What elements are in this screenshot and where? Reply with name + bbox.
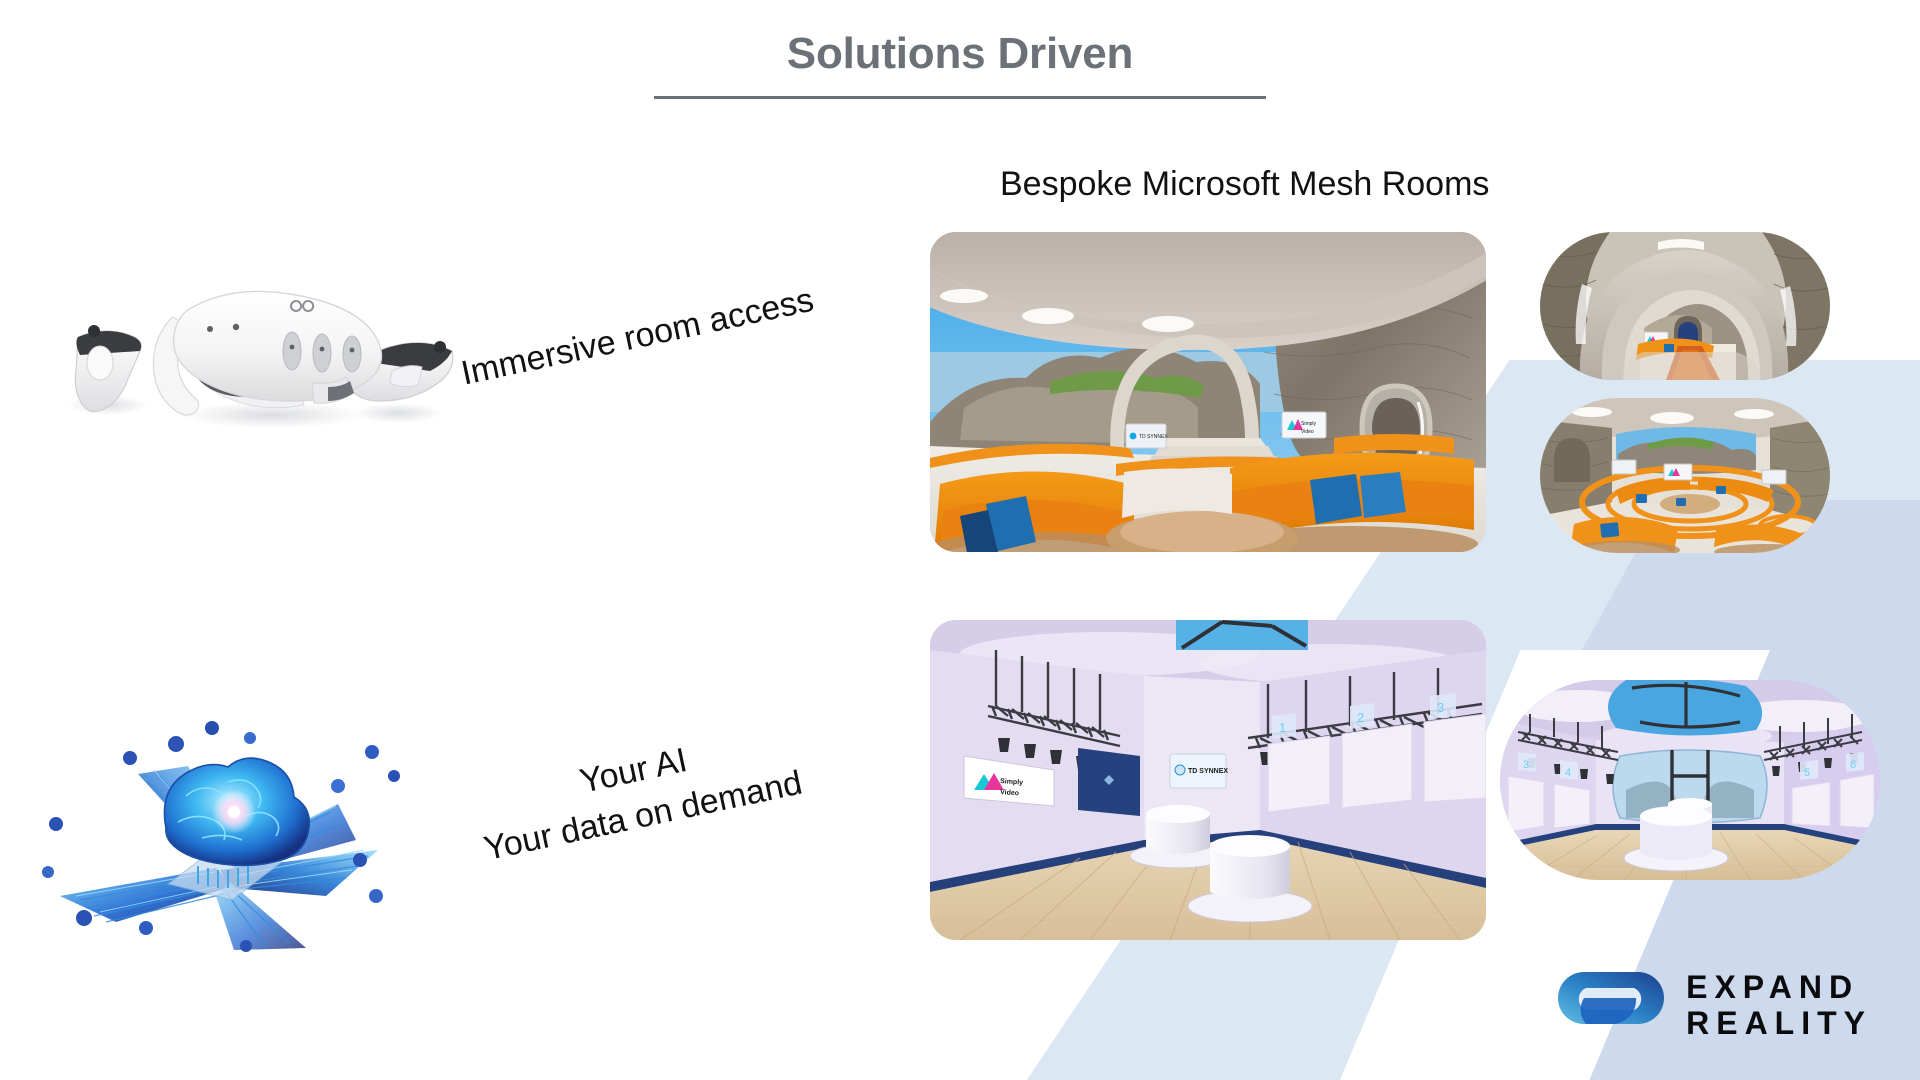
logo-line-1: EXPAND <box>1686 970 1872 1006</box>
slide-root: Solutions Driven Bespoke Microsoft Mesh … <box>0 0 1920 1080</box>
svg-text:3: 3 <box>1523 759 1529 771</box>
screen-simply-video: Simply Video <box>1282 412 1326 438</box>
mesh-room-cliff-lounge-image: TD SYNNEX Simply Video <box>930 232 1486 552</box>
svg-text:5: 5 <box>1804 767 1810 779</box>
mesh-room-showroom-panorama-image: 3 4 5 6 <box>1500 680 1880 880</box>
svg-text:Simply: Simply <box>1301 421 1317 427</box>
title-underline <box>654 96 1266 99</box>
door <box>1078 748 1140 816</box>
caption-your-ai: Your AI Your data on demand <box>470 716 806 873</box>
mesh-room-tunnel-image <box>1540 232 1830 380</box>
svg-text:Video: Video <box>1000 789 1019 797</box>
svg-text:Video: Video <box>1301 429 1314 435</box>
svg-text:1: 1 <box>1279 720 1286 735</box>
ai-brain-illustration <box>20 700 440 960</box>
svg-text:TD SYNNEX: TD SYNNEX <box>1139 434 1168 440</box>
expand-reality-wordmark: EXPAND REALITY <box>1686 970 1872 1042</box>
svg-text:TD SYNNEX: TD SYNNEX <box>1188 768 1228 775</box>
headset-shape <box>153 291 381 428</box>
svg-text:3: 3 <box>1437 700 1444 715</box>
expand-reality-logo: EXPAND REALITY <box>1558 964 1872 1048</box>
screen-td-synnex-back: TD SYNNEX <box>1170 754 1228 788</box>
left-controller-shape <box>68 325 148 415</box>
svg-text:2: 2 <box>1357 710 1364 725</box>
mesh-room-showroom-image: Simply Video TD SYNNEX <box>930 620 1486 940</box>
svg-text:4: 4 <box>1565 767 1571 779</box>
expand-reality-mark-icon <box>1558 964 1664 1048</box>
mesh-room-amphitheatre-image <box>1540 398 1830 553</box>
svg-text:6: 6 <box>1850 759 1856 771</box>
title-block: Solutions Driven <box>0 30 1920 99</box>
page-title: Solutions Driven <box>0 30 1920 78</box>
screen-simply-video-amphi <box>1664 464 1692 480</box>
screen-td-synnex: TD SYNNEX <box>1126 424 1168 448</box>
section-heading: Bespoke Microsoft Mesh Rooms <box>1000 165 1489 204</box>
vr-headset-illustration <box>60 255 480 435</box>
caption-immersive-room-access: Immersive room access <box>457 278 818 398</box>
logo-line-2: REALITY <box>1686 1006 1872 1042</box>
